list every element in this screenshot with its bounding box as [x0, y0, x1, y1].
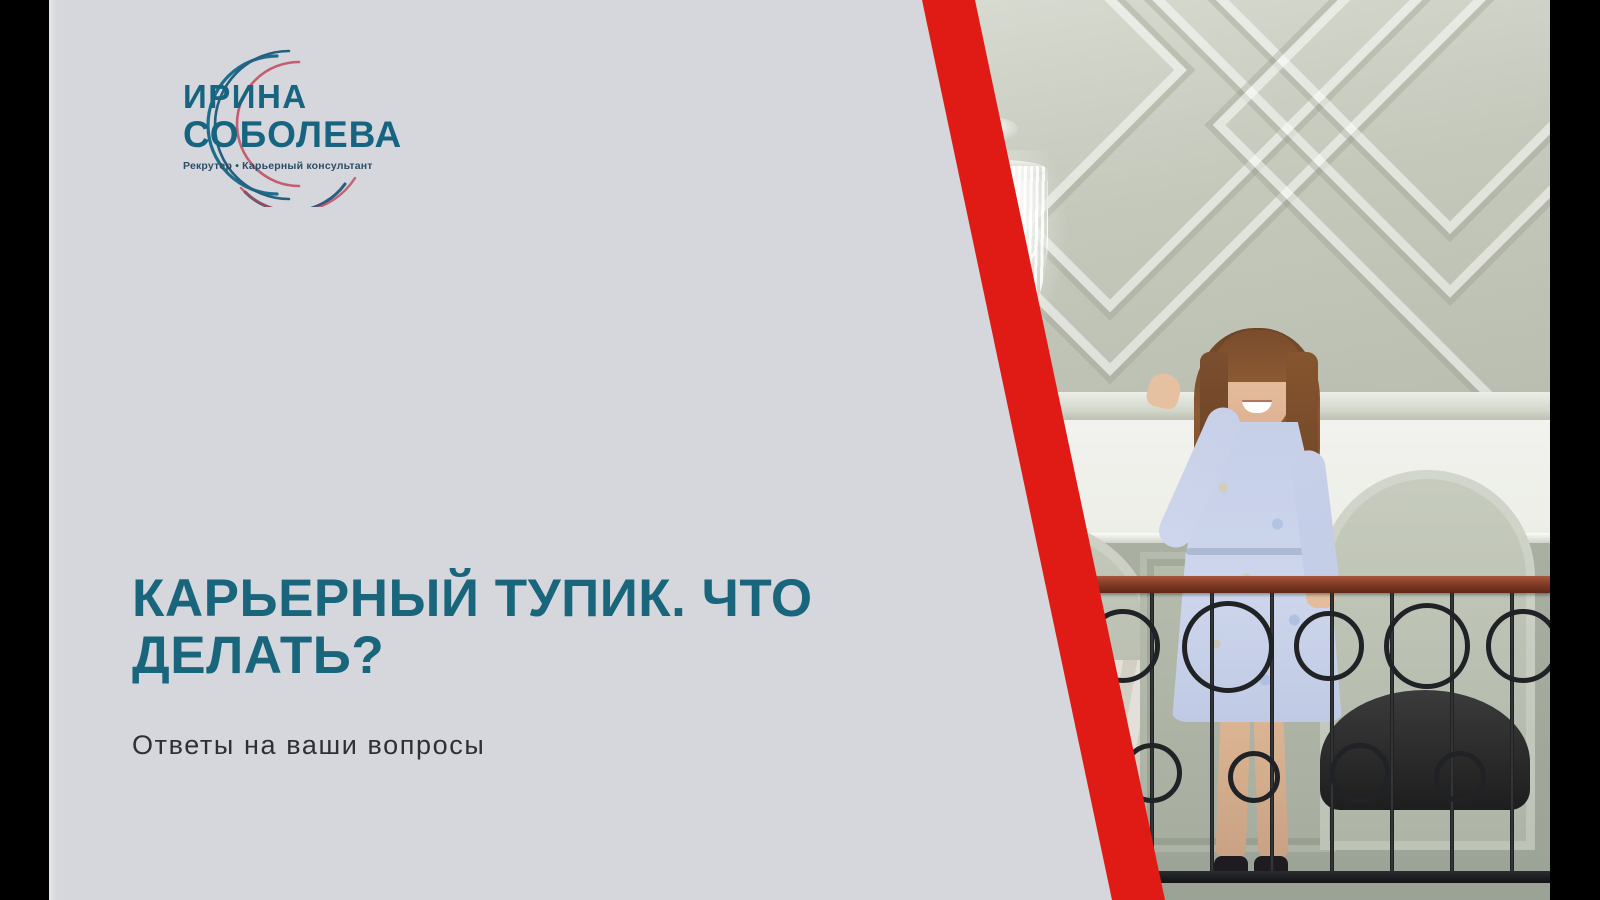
iron-scroll	[1434, 751, 1486, 803]
photo-scene	[890, 0, 1550, 900]
slide-stage: ИРИНА СОБОЛЕВА Рекрутер • Карьерный конс…	[0, 0, 1600, 900]
raised-hand	[1144, 371, 1183, 412]
iron-scroll	[920, 743, 980, 803]
baluster	[970, 593, 974, 883]
headline-line-2: ДЕЛАТЬ?	[132, 627, 892, 684]
wrought-iron-railing	[890, 593, 1550, 883]
chandelier-tier	[983, 248, 1017, 306]
slide-canvas: ИРИНА СОБОЛЕВА Рекрутер • Карьерный конс…	[49, 0, 1550, 900]
iron-scroll	[1384, 603, 1470, 689]
iron-scroll	[1122, 743, 1182, 803]
logo-wordmark: ИРИНА СОБОЛЕВА Рекрутер • Карьерный конс…	[183, 80, 413, 172]
brand-logo[interactable]: ИРИНА СОБОЛЕВА Рекрутер • Карьерный конс…	[149, 42, 419, 207]
canvas-seam	[49, 0, 57, 900]
iron-scroll	[980, 603, 1066, 689]
letterbox-bar-right	[1550, 0, 1600, 900]
wooden-handrail	[890, 576, 1550, 593]
wall-column	[890, 180, 970, 600]
headline-line-1: КАРЬЕРНЫЙ ТУПИК. ЧТО	[132, 570, 892, 627]
iron-scroll	[1486, 609, 1550, 683]
iron-scroll	[1086, 609, 1160, 683]
logo-last-name: СОБОЛЕВА	[183, 115, 413, 156]
headline-block: КАРЬЕРНЫЙ ТУПИК. ЧТО ДЕЛАТЬ? Ответы на в…	[132, 570, 892, 761]
iron-scroll	[1182, 601, 1274, 693]
railing-base-rail	[890, 871, 1550, 883]
logo-first-name: ИРИНА	[183, 80, 413, 113]
baluster	[1030, 593, 1034, 883]
logo-tagline: Рекрутер • Карьерный консультант	[183, 160, 413, 172]
letterbox-bar-left	[0, 0, 49, 900]
headline-subtitle: Ответы на ваши вопросы	[132, 730, 892, 761]
iron-scroll	[1020, 751, 1072, 803]
iron-scroll	[1228, 751, 1280, 803]
iron-scroll	[1330, 743, 1390, 803]
baluster	[910, 593, 914, 883]
iron-scroll	[898, 611, 968, 681]
chandelier-ceiling-mount	[976, 118, 1018, 140]
iron-scroll	[1294, 611, 1364, 681]
hero-photo	[890, 0, 1550, 900]
